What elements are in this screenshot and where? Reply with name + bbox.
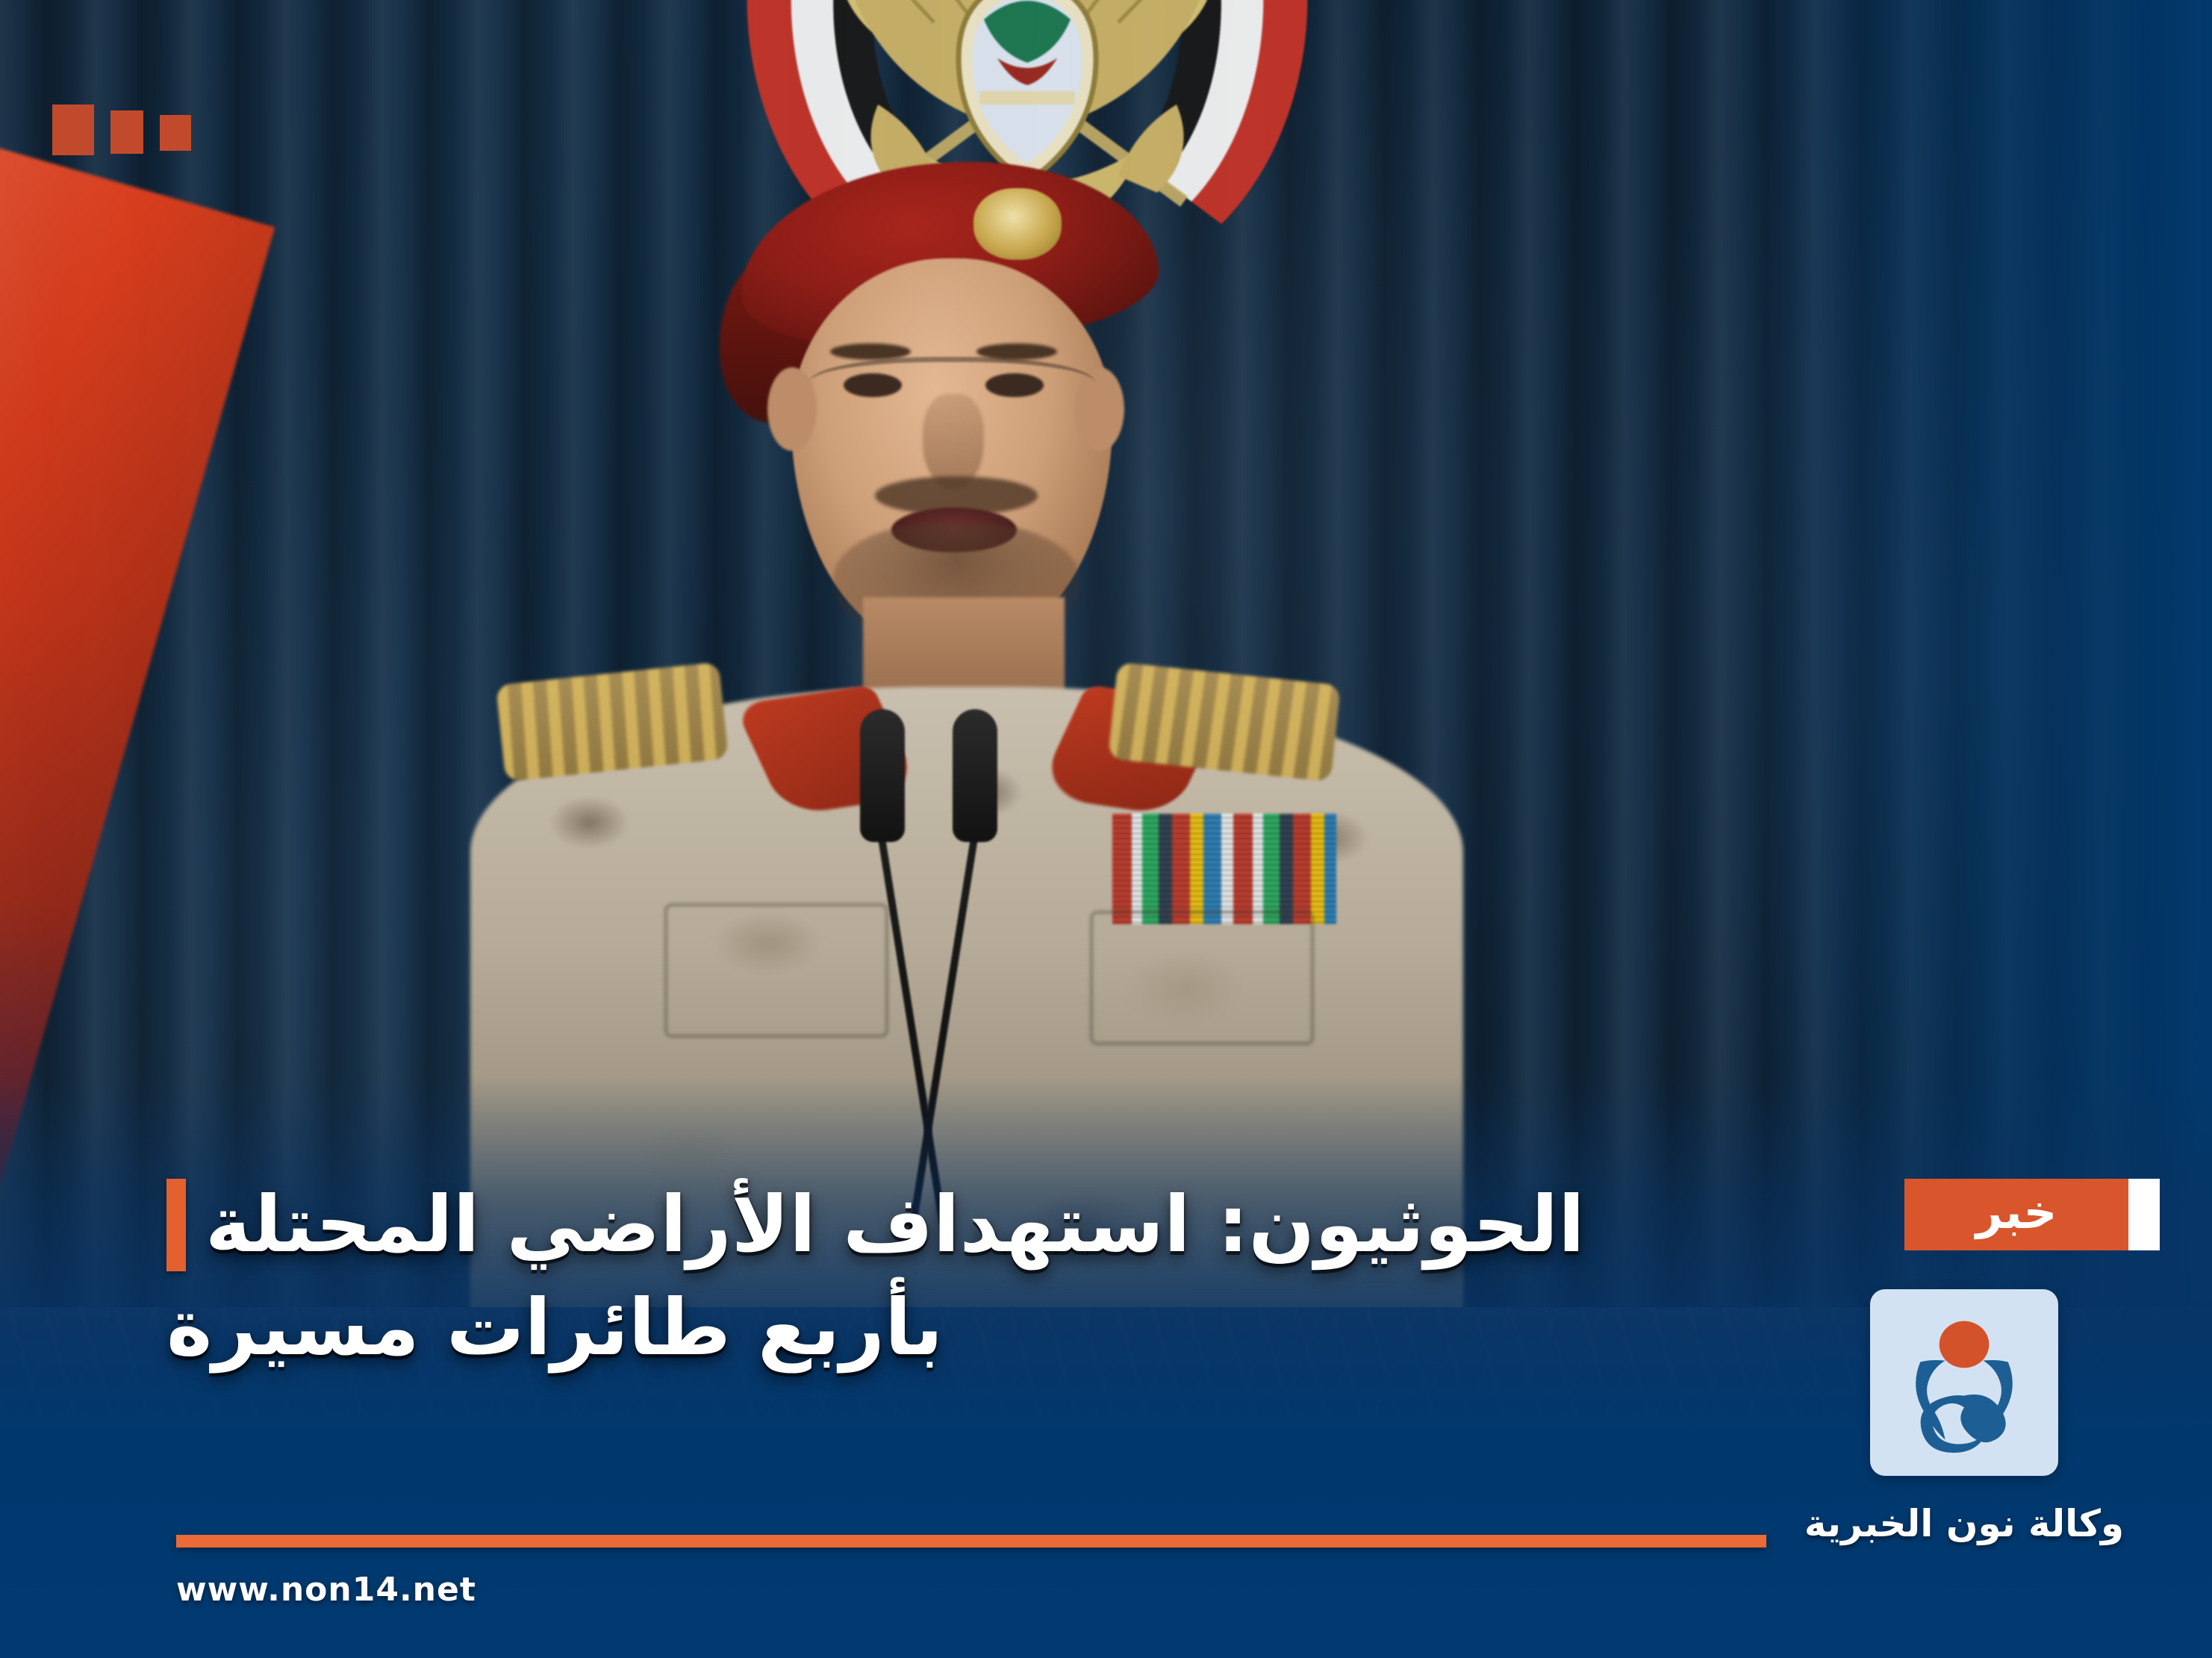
site-url[interactable]: www.non14.net (176, 1571, 476, 1609)
news-badge-label: خبر (1976, 1189, 2057, 1235)
nose (923, 394, 984, 490)
bar-2 (110, 110, 143, 154)
headline-row-1: الحوثيون: استهداف الأراضي المحتلة (166, 1174, 1794, 1276)
beret-badge-icon (973, 188, 1062, 260)
agency-name: وكالة نون الخبرية (1800, 1501, 2128, 1546)
brand-block: خبر وكالة نون الخبرية (1800, 1179, 2128, 1546)
headline: الحوثيون: استهداف الأراضي المحتلة بأربع … (166, 1174, 1794, 1379)
noon-agency-logo-icon (1891, 1309, 2037, 1456)
bar-1 (52, 105, 94, 155)
headline-line-1: الحوثيون: استهداف الأراضي المحتلة (205, 1174, 1585, 1276)
uniform-pocket-left (664, 903, 888, 1038)
headline-row-2: بأربع طائرات مسيرة (166, 1277, 1794, 1379)
headline-line-2: بأربع طائرات مسيرة (166, 1277, 943, 1379)
eye-right (985, 373, 1044, 397)
three-bars-icon (52, 105, 191, 155)
medal-ribbons-icon (1112, 814, 1336, 924)
horizontal-divider-icon (176, 1535, 1766, 1548)
bar-3 (160, 115, 191, 151)
news-graphic-card: الحوثيون: استهداف الأراضي المحتلة بأربع … (0, 0, 2212, 1658)
eye-left (844, 373, 902, 397)
microphone-icon (860, 709, 905, 842)
eyebrow-left (830, 343, 911, 360)
uniform-pocket-right (1090, 911, 1314, 1045)
microphone-icon (953, 709, 997, 842)
accent-bar-icon (166, 1179, 186, 1271)
agency-logo-tile[interactable] (1870, 1289, 2058, 1476)
news-badge: خبر (1904, 1179, 2128, 1250)
